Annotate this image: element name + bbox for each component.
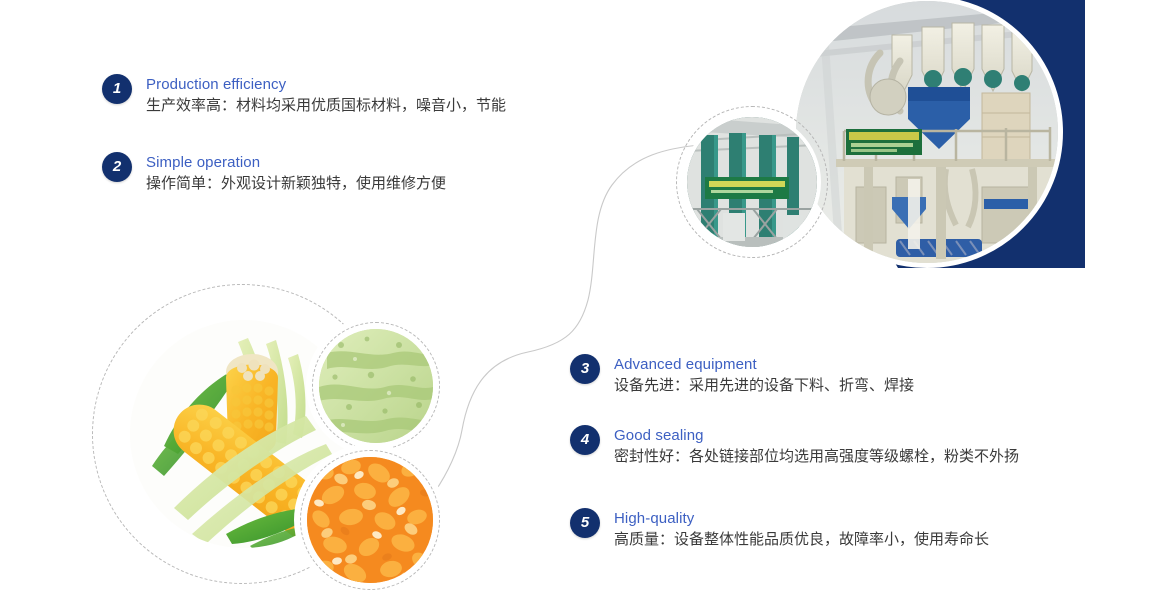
kernel-photo bbox=[307, 457, 433, 583]
feature-title-en-2: Simple operation bbox=[146, 153, 446, 172]
feature-title-cn-1: 生产效率高：材料均采用优质国标材料，噪音小，节能 bbox=[146, 95, 506, 117]
feature-title-en-3: Advanced equipment bbox=[614, 355, 914, 374]
feature-text-2: Simple operation 操作简单：外观设计新颖独特，使用维修方便 bbox=[146, 152, 446, 195]
feature-text-3: Advanced equipment 设备先进：采用先进的设备下料、折弯、焊接 bbox=[614, 354, 914, 397]
feature-title-cn-5: 高质量：设备整体性能品质优良，故障率小，使用寿命长 bbox=[614, 529, 989, 551]
feature-item-4[interactable]: 4 Good sealing 密封性好：各处链接部位均选用高强度等级螺栓，粉类不… bbox=[570, 425, 1019, 468]
feature-item-2[interactable]: 2 Simple operation 操作简单：外观设计新颖独特，使用维修方便 bbox=[102, 152, 446, 195]
feature-badge-2: 2 bbox=[102, 152, 132, 182]
feature-badge-3: 3 bbox=[570, 354, 600, 384]
feature-title-cn-3: 设备先进：采用先进的设备下料、折弯、焊接 bbox=[614, 375, 914, 397]
feature-text-4: Good sealing 密封性好：各处链接部位均选用高强度等级螺栓，粉类不外扬 bbox=[614, 425, 1019, 468]
feature-item-5[interactable]: 5 High-quality 高质量：设备整体性能品质优良，故障率小，使用寿命长 bbox=[570, 508, 989, 551]
feature-infographic: 1 Production efficiency 生产效率高：材料均采用优质国标材… bbox=[0, 0, 1154, 591]
green-paste-photo bbox=[319, 329, 433, 443]
feature-title-cn-2: 操作简单：外观设计新颖独特，使用维修方便 bbox=[146, 173, 446, 195]
feature-title-cn-4: 密封性好：各处链接部位均选用高强度等级螺栓，粉类不外扬 bbox=[614, 446, 1019, 468]
feature-badge-4: 4 bbox=[570, 425, 600, 455]
feature-text-1: Production efficiency 生产效率高：材料均采用优质国标材料，… bbox=[146, 74, 506, 117]
feature-title-en-1: Production efficiency bbox=[146, 75, 506, 94]
feature-title-en-4: Good sealing bbox=[614, 426, 1019, 445]
feature-badge-1: 1 bbox=[102, 74, 132, 104]
plant-media-group bbox=[660, 0, 1154, 284]
feature-badge-5: 5 bbox=[570, 508, 600, 538]
feature-title-en-5: High-quality bbox=[614, 509, 989, 528]
main-plant-photo bbox=[796, 1, 1058, 263]
small-plant-photo bbox=[687, 117, 817, 247]
corn-media-group bbox=[88, 278, 488, 591]
feature-item-3[interactable]: 3 Advanced equipment 设备先进：采用先进的设备下料、折弯、焊… bbox=[570, 354, 914, 397]
feature-text-5: High-quality 高质量：设备整体性能品质优良，故障率小，使用寿命长 bbox=[614, 508, 989, 551]
feature-item-1[interactable]: 1 Production efficiency 生产效率高：材料均采用优质国标材… bbox=[102, 74, 506, 117]
